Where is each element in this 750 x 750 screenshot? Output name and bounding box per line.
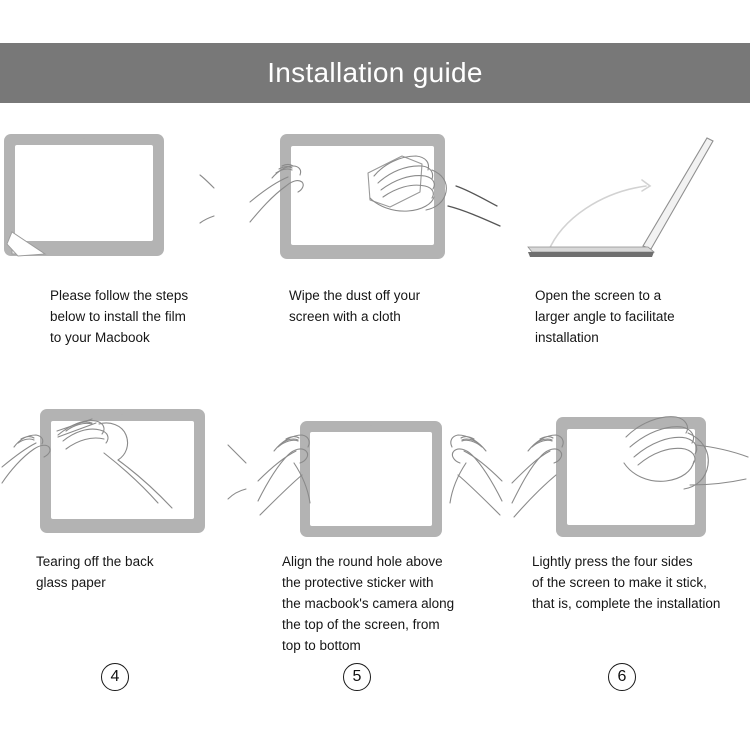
step-4-number-badge: 4 [101,663,129,691]
step-card-5: Align the round hole above the protectiv… [250,405,510,685]
step-5-caption: Align the round hole above the protectiv… [282,551,454,656]
step-3-illustration [510,130,750,280]
step-card-4: Tearing off the back glass paper 4 [0,405,250,685]
steps-grid: Please follow the steps below to install… [0,130,750,685]
step-card-6: Lightly press the four sides of the scre… [510,405,750,685]
step-card-3: Open the screen to a larger angle to fac… [510,130,750,405]
page-title: Installation guide [267,57,483,89]
step-5-illustration [250,405,510,545]
step-card-2: Wipe the dust off your screen with a clo… [250,130,510,405]
step-3-caption: Open the screen to a larger angle to fac… [535,285,675,348]
installation-guide-page: Installation guide Please follow the ste… [0,0,750,750]
step-4-illustration [0,405,250,545]
step-6-illustration [510,405,750,545]
tablet-peeling-corner-icon [0,130,230,280]
tablet-wipe-cloth-icon [250,130,510,280]
step-2-caption: Wipe the dust off your screen with a clo… [289,285,420,327]
laptop-open-angle-icon [510,130,750,280]
step-2-illustration [250,130,510,280]
step-6-number-badge: 6 [608,663,636,691]
step-1-caption: Please follow the steps below to install… [50,285,188,348]
step-6-caption: Lightly press the four sides of the scre… [532,551,720,614]
step-5-number-badge: 5 [343,663,371,691]
tablet-press-edges-icon [510,405,750,545]
step-1-illustration [0,130,288,280]
header-band: Installation guide [0,43,750,103]
step-4-caption: Tearing off the back glass paper [36,551,154,593]
step-card-1: Please follow the steps below to install… [0,130,250,405]
tablet-peel-backing-icon [0,405,250,545]
tablet-align-film-icon [250,405,510,545]
